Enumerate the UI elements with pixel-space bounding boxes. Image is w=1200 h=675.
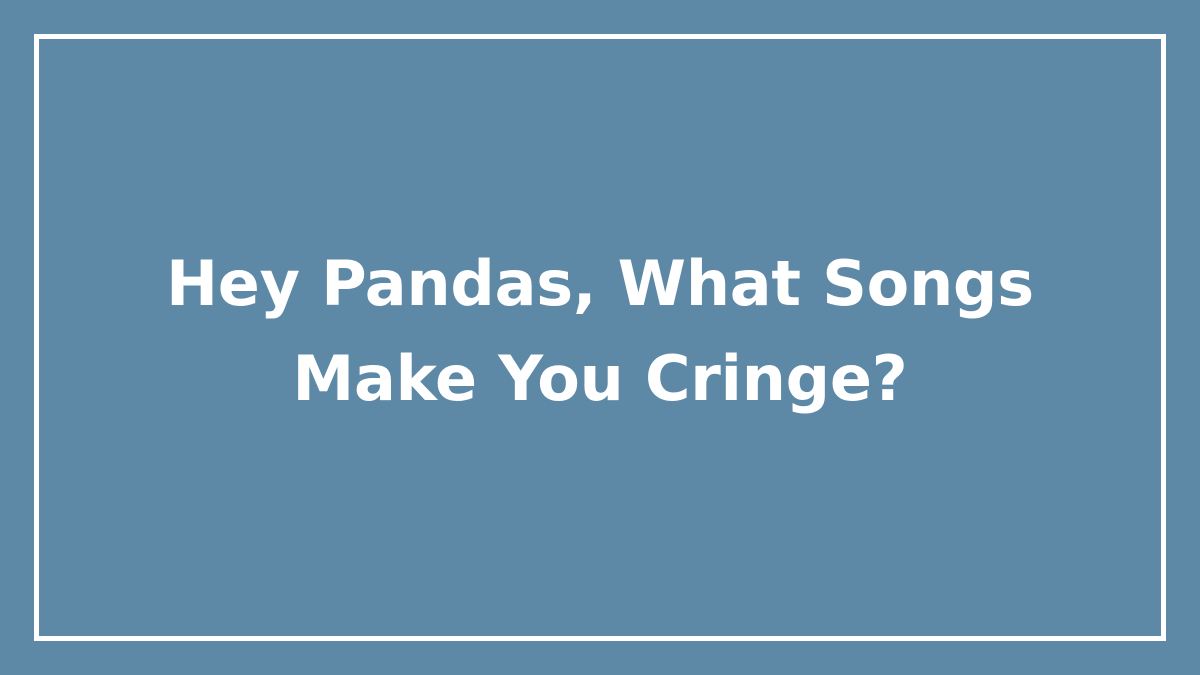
- title-card: Hey Pandas, What Songs Make You Cringe?: [0, 0, 1200, 675]
- headline-container: Hey Pandas, What Songs Make You Cringe?: [0, 0, 1200, 675]
- page-title: Hey Pandas, What Songs Make You Cringe?: [86, 236, 1114, 426]
